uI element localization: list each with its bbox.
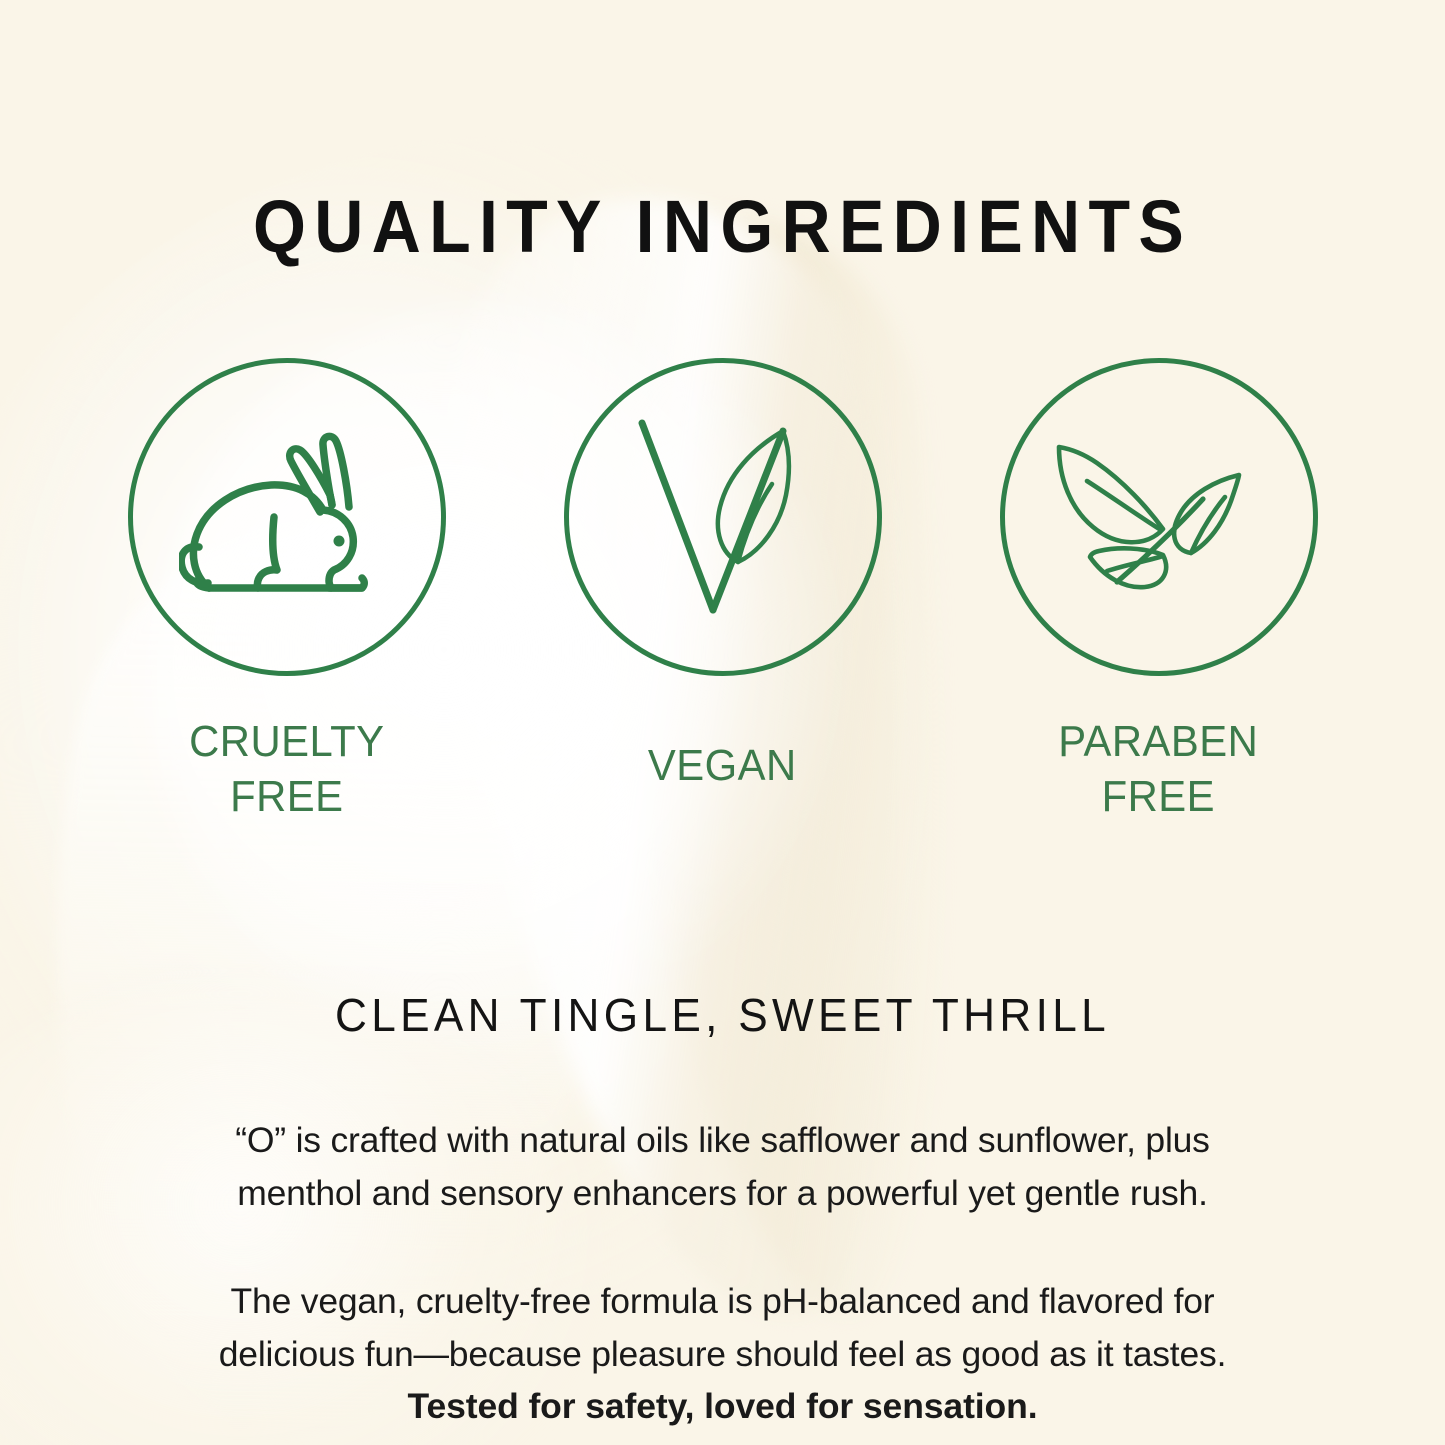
badge-label-cruelty-free: CRUELTY FREE [189, 714, 384, 824]
paragraph-ingredients: “O” is crafted with natural oils like sa… [218, 1114, 1228, 1219]
badge-label-vegan: VEGAN [648, 738, 797, 793]
badge-row: CRUELTY FREE [0, 358, 1445, 824]
badge-paraben-free: PARABEN FREE [999, 358, 1319, 824]
badge-circle-vegan [564, 358, 882, 676]
badge-label-line2: FREE [1058, 769, 1258, 824]
badge-label-line1: PARABEN [1058, 717, 1258, 766]
paragraph-formula-text: The vegan, cruelty-free formula is pH-ba… [219, 1281, 1226, 1374]
badge-circle-cruelty-free [128, 358, 446, 676]
rabbit-icon [179, 425, 394, 610]
three-leaf-sprig-icon [1051, 437, 1266, 597]
closing-line: Tested for safety, loved for sensation. [408, 1386, 1038, 1426]
badge-circle-paraben-free [1000, 358, 1318, 676]
copy-block: CLEAN TINGLE, SWEET THRILL “O” is crafte… [0, 950, 1445, 1433]
quality-ingredients-panel: QUALITY INGREDIENTS [0, 0, 1445, 1445]
badge-label-line2: FREE [189, 769, 384, 824]
subheading: CLEAN TINGLE, SWEET THRILL [29, 988, 1416, 1042]
badge-vegan: VEGAN [563, 358, 883, 824]
badge-label-line1: CRUELTY [189, 717, 384, 766]
vegan-leaf-v-icon [620, 405, 825, 630]
badge-label-line1: VEGAN [648, 741, 797, 790]
paragraph-formula: The vegan, cruelty-free formula is pH-ba… [218, 1275, 1228, 1433]
badge-label-paraben-free: PARABEN FREE [1058, 714, 1258, 824]
panel-content: QUALITY INGREDIENTS [0, 0, 1445, 1445]
page-title: QUALITY INGREDIENTS [58, 184, 1387, 269]
badge-cruelty-free: CRUELTY FREE [127, 358, 447, 824]
